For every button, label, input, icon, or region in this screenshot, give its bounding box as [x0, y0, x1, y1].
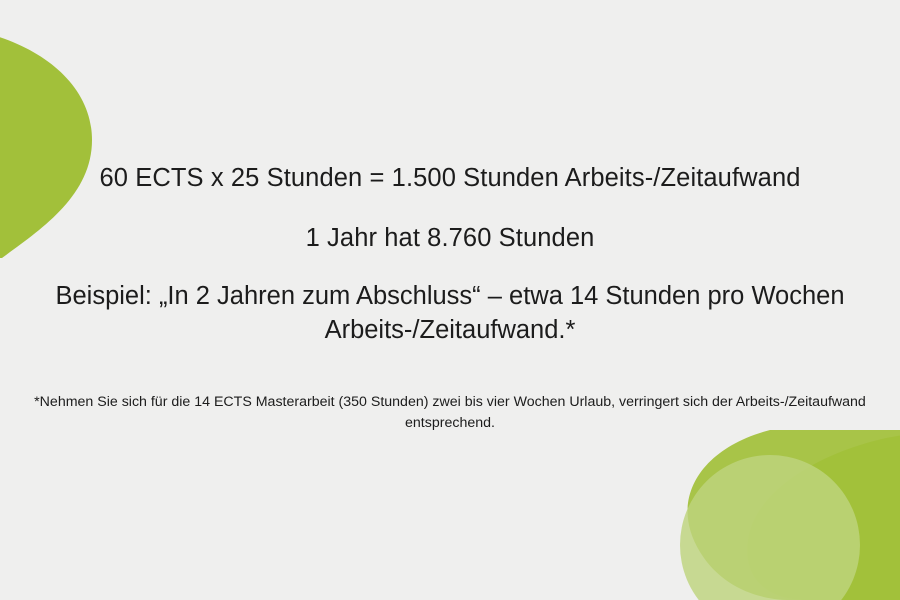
statement-line-ects-hours: 60 ECTS x 25 Stunden = 1.500 Stunden Arb…: [0, 161, 900, 195]
footnote-text: *Nehmen Sie sich für die 14 ECTS Mastera…: [32, 392, 868, 434]
text-content: 60 ECTS x 25 Stunden = 1.500 Stunden Arb…: [0, 0, 900, 600]
statement-line-year-hours: 1 Jahr hat 8.760 Stunden: [0, 221, 900, 255]
statement-paragraph-example: Beispiel: „In 2 Jahren zum Abschluss“ – …: [50, 279, 850, 347]
slide-canvas: 60 ECTS x 25 Stunden = 1.500 Stunden Arb…: [0, 0, 900, 600]
